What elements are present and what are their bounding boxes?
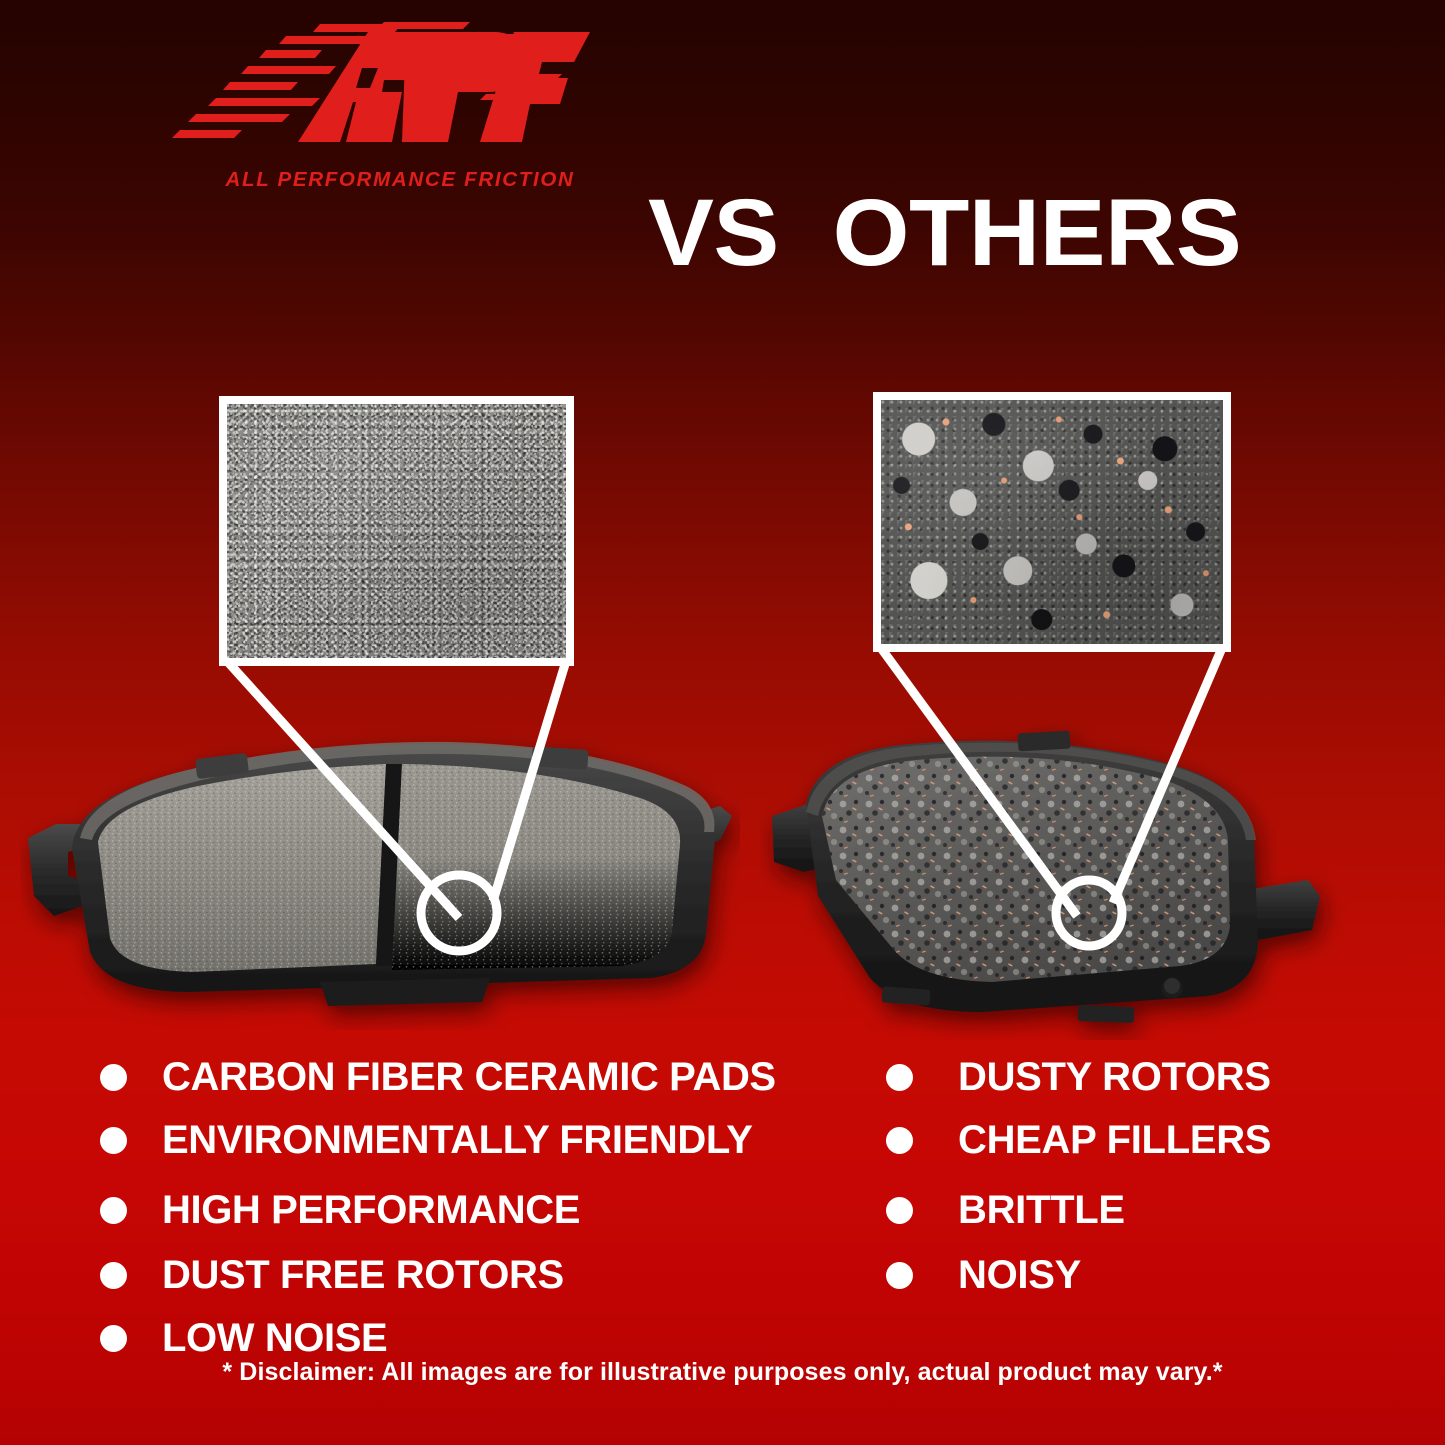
others-feature-list: DUSTY ROTORS CHEAP FILLERS BRITTLE NOISY (886, 1050, 1346, 1300)
bullet-icon (100, 1262, 127, 1289)
feature-label: NOISY (958, 1255, 1081, 1295)
bullet-icon (886, 1197, 913, 1224)
page-title: VS OTHERS (648, 186, 1241, 281)
bullet-icon (886, 1064, 913, 1091)
list-item: DUSTY ROTORS (886, 1057, 1271, 1097)
comparison-infographic: ALL PERFORMANCE FRICTION VS OTHERS (0, 0, 1445, 1445)
others-brake-pad (760, 720, 1360, 1040)
bullet-icon (886, 1262, 913, 1289)
bullet-icon (100, 1127, 127, 1154)
apf-speed-logo-icon (170, 18, 590, 168)
feature-label: DUSTY ROTORS (958, 1057, 1271, 1097)
bullet-icon (100, 1325, 127, 1352)
others-texture-image (881, 400, 1223, 644)
feature-label: LOW NOISE (162, 1318, 387, 1358)
list-item: ENVIRONMENTALLY FRIENDLY (100, 1120, 752, 1160)
feature-label: HIGH PERFORMANCE (162, 1190, 580, 1230)
list-item: CARBON FIBER CERAMIC PADS (100, 1057, 776, 1097)
bullet-icon (100, 1197, 127, 1224)
others-friction-material-magnified (873, 392, 1231, 652)
list-item: CHEAP FILLERS (886, 1120, 1271, 1160)
feature-label: CHEAP FILLERS (958, 1120, 1271, 1160)
bullet-icon (886, 1127, 913, 1154)
feature-label: DUST FREE ROTORS (162, 1255, 564, 1295)
feature-label: BRITTLE (958, 1190, 1125, 1230)
list-item: NOISY (886, 1255, 1081, 1295)
brand-tagline: ALL PERFORMANCE FRICTION (210, 168, 590, 192)
apf-feature-list: CARBON FIBER CERAMIC PADS ENVIRONMENTALL… (100, 1050, 820, 1360)
apf-friction-material-magnified (219, 396, 574, 666)
bullet-icon (100, 1064, 127, 1091)
list-item: LOW NOISE (100, 1318, 387, 1358)
apf-texture-image (227, 404, 566, 658)
feature-label: ENVIRONMENTALLY FRIENDLY (162, 1120, 752, 1160)
list-item: HIGH PERFORMANCE (100, 1190, 580, 1230)
list-item: DUST FREE ROTORS (100, 1255, 564, 1295)
disclaimer-text: * Disclaimer: All images are for illustr… (0, 1358, 1445, 1387)
feature-label: CARBON FIBER CERAMIC PADS (162, 1057, 776, 1097)
apf-brake-pad (20, 720, 740, 1030)
header: ALL PERFORMANCE FRICTION VS OTHERS (0, 0, 1445, 210)
brand-logo: ALL PERFORMANCE FRICTION (170, 18, 590, 208)
list-item: BRITTLE (886, 1190, 1125, 1230)
